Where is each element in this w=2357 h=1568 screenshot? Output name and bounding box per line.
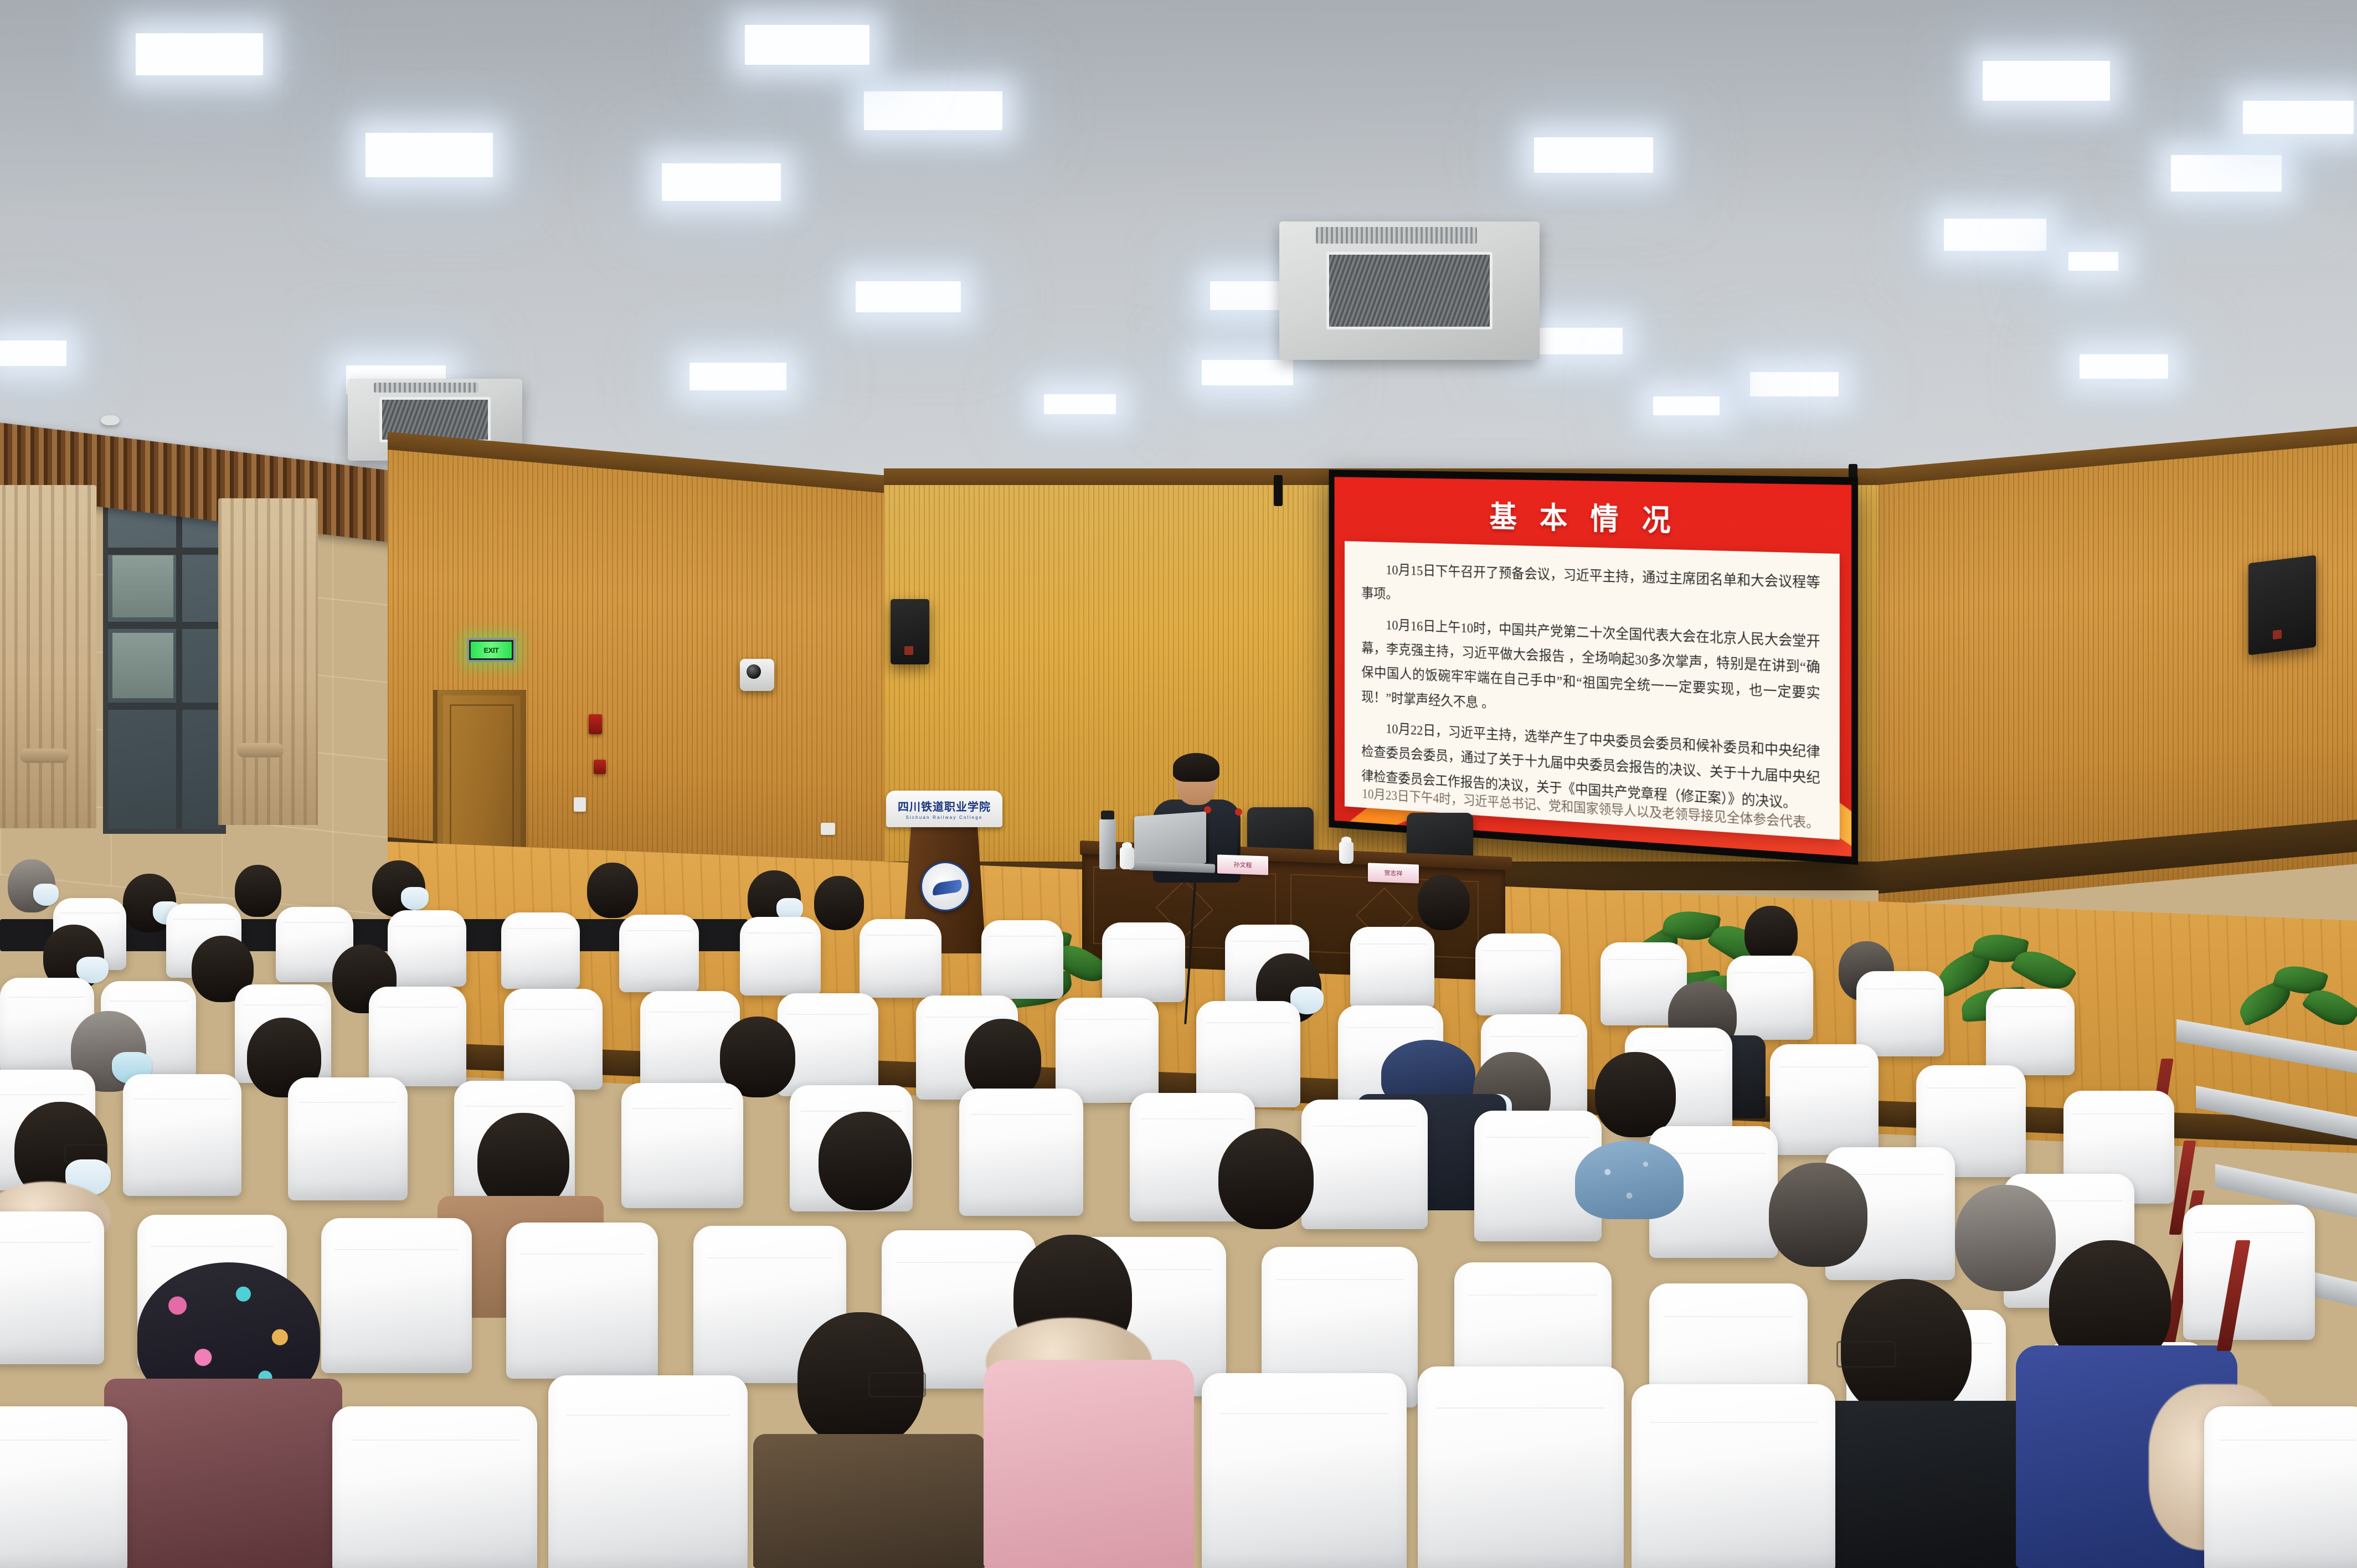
seat[interactable] — [1350, 927, 1434, 1009]
seat[interactable] — [0, 1406, 127, 1568]
seat[interactable] — [1727, 956, 1813, 1040]
screen-frame: 基 本 情 况 10月15日下午召开了预备会议，习近平主持，通过主席团名单和大会… — [1329, 470, 1858, 865]
wall-outlet[interactable] — [821, 823, 835, 835]
attendee-head — [587, 863, 638, 918]
seat[interactable] — [123, 1074, 241, 1196]
seat[interactable] — [504, 989, 603, 1090]
exit-sign-label: EXIT — [471, 642, 512, 658]
ceiling-light-panel — [1044, 394, 1116, 414]
seat[interactable] — [1986, 989, 2075, 1075]
seat[interactable] — [619, 915, 699, 992]
seat[interactable] — [2204, 1406, 2357, 1568]
ceiling-light-panel — [2171, 155, 2282, 192]
seat[interactable] — [1770, 1044, 1879, 1155]
eyeglasses-icon — [868, 1372, 926, 1397]
wall-speaker-left — [891, 599, 929, 664]
ceiling-light-panel — [0, 341, 66, 366]
emergency-exit-sign: EXIT — [467, 638, 516, 662]
fire-alarm-call-point-icon[interactable] — [594, 760, 606, 774]
ceiling-light-panel — [366, 133, 493, 177]
side-door[interactable] — [433, 690, 526, 868]
attendee-coat — [753, 1434, 986, 1568]
attendee-speckled-cap — [1575, 1141, 1684, 1219]
seat[interactable] — [1202, 1373, 1407, 1568]
ceiling-light-panel — [689, 363, 786, 390]
projection-screen: 基 本 情 况 10月15日下午召开了预备会议，习近平主持，通过主席团名单和大会… — [1329, 470, 1858, 865]
seat[interactable] — [548, 1375, 748, 1568]
seat[interactable] — [740, 917, 821, 996]
light-switch[interactable] — [574, 797, 586, 812]
attendee-head — [1841, 1279, 1972, 1417]
door-panel — [450, 704, 514, 854]
ceiling-light-panel — [2243, 101, 2354, 134]
seat[interactable] — [506, 1223, 658, 1379]
seat[interactable] — [2183, 1205, 2315, 1340]
ceiling-light-panel — [856, 281, 961, 312]
ptz-camera-icon — [740, 659, 774, 691]
attendee-head — [1418, 875, 1470, 930]
ceiling-light-panel — [1983, 61, 2110, 101]
attendee-head — [1595, 1052, 1676, 1137]
auditorium-photo-scene: EXIT 基 本 情 况 10月15日下午召开了预备会议，习近平主持，通过主席团… — [0, 0, 2357, 1568]
attendee-head — [1744, 906, 1798, 963]
ceiling-light-panel — [745, 25, 869, 65]
slide-paragraph-1: 10月15日下午召开了预备会议，习近平主持，通过主席团名单和大会议程等事项。 — [1361, 557, 1820, 622]
ceiling-light-panel — [1529, 328, 1623, 354]
seat[interactable] — [501, 912, 580, 989]
attendee-coat — [104, 1379, 342, 1568]
seat[interactable] — [981, 920, 1063, 999]
attendee-head — [819, 1112, 912, 1210]
smoke-detector-icon — [101, 415, 120, 425]
screen-hook-left — [1274, 475, 1283, 506]
seat[interactable] — [1301, 1100, 1428, 1229]
attendee-head — [235, 865, 281, 917]
attendee-head — [8, 859, 55, 912]
slide-paragraph-2: 10月16日上午10时，中国共产党第二十次全国代表大会在北京人民大会堂开幕，李克… — [1361, 612, 1820, 733]
attendee-head — [372, 860, 425, 917]
curtain-left — [0, 485, 96, 828]
seat[interactable] — [1196, 1001, 1300, 1107]
ceiling-light-panel — [662, 163, 781, 201]
ceiling-light-panel — [1202, 360, 1293, 385]
seat[interactable] — [388, 910, 466, 987]
lectern-header-plate: 四川铁道职业学院 Sichuan Railway College — [886, 791, 1002, 827]
seat[interactable] — [1632, 1384, 1835, 1568]
ceiling-light-panel — [2080, 354, 2168, 379]
seat[interactable] — [1056, 998, 1159, 1103]
ceiling-ac-cassette — [1279, 221, 1540, 360]
seat[interactable] — [332, 1406, 537, 1568]
attendee-head — [1769, 1163, 1867, 1267]
attendee-head — [797, 1312, 924, 1447]
seat[interactable] — [1856, 971, 1944, 1056]
seat[interactable] — [1102, 922, 1185, 1002]
wall-speaker-right — [2248, 555, 2316, 656]
lectern-name-cn: 四川铁道职业学院 — [898, 798, 991, 814]
seat[interactable] — [1475, 933, 1561, 1015]
seat[interactable] — [321, 1218, 472, 1373]
seat[interactable] — [860, 919, 941, 998]
seat[interactable] — [1418, 1366, 1624, 1568]
window — [103, 499, 226, 834]
attendee-pink-coat — [984, 1360, 1194, 1568]
curtain-tieback — [20, 749, 69, 763]
ceiling-light-panel — [1534, 137, 1653, 173]
seat[interactable] — [621, 1083, 743, 1208]
ceiling-light-panel — [864, 91, 1002, 130]
audience-seating — [0, 853, 2357, 1568]
ceiling-light-panel — [1750, 372, 1839, 396]
speaker-hair — [1173, 753, 1219, 782]
seat[interactable] — [959, 1089, 1083, 1216]
attendee-head — [814, 876, 864, 930]
curtain-right — [218, 498, 318, 825]
seat[interactable] — [0, 1211, 104, 1364]
curtain-tieback — [237, 743, 284, 757]
slide-canvas: 基 本 情 况 10月15日下午召开了预备会议，习近平主持，通过主席团名单和大会… — [1335, 477, 1852, 857]
fire-extinguisher-box-icon — [589, 714, 602, 734]
seat[interactable] — [288, 1077, 408, 1200]
ceiling-light-panel — [1653, 396, 1720, 415]
eyeglasses-icon — [1836, 1341, 1896, 1368]
ceiling-light-panel — [2068, 252, 2118, 271]
attendee-head — [1218, 1128, 1314, 1229]
attendee-head — [1955, 1185, 2056, 1291]
ceiling-light-panel — [136, 33, 263, 75]
seat[interactable] — [369, 987, 466, 1086]
lectern-name-en: Sichuan Railway College — [905, 815, 982, 820]
ceiling-light-panel — [1944, 219, 2046, 251]
